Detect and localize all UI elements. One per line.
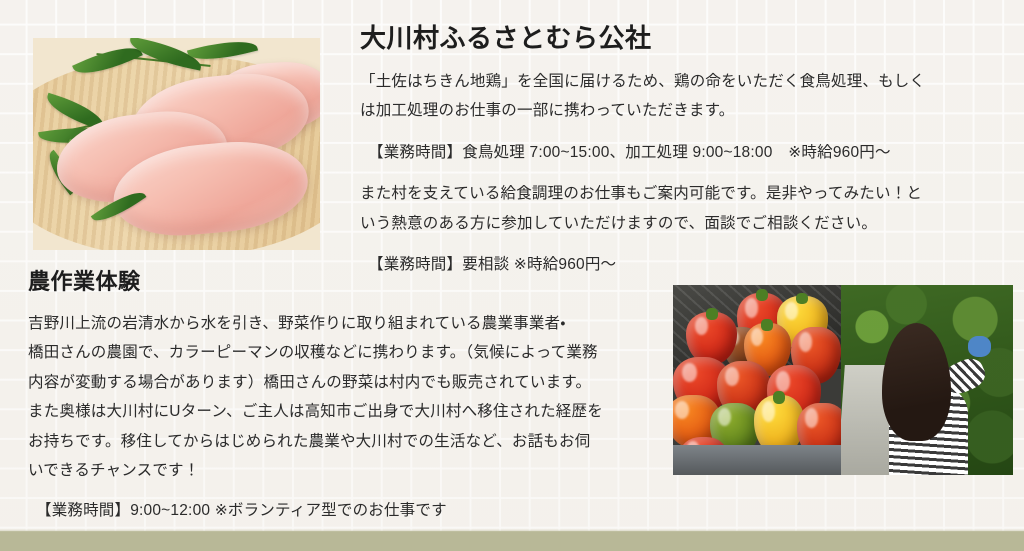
farm-paragraph-line-6: いできるチャンスです！ — [28, 456, 728, 486]
company-section: 大川村ふるさとむら公社 「土佐はちきん地鶏」を全国に届けるため、鶏の命をいただく… — [360, 22, 1008, 280]
farm-hours-wrapper: 【業務時間】9:00~12:00 ※ボランティア型でのお仕事です — [28, 496, 668, 526]
farm-paragraph-line-2: 橋田さんの農園で、カラーピーマンの収穫などに携わります。（気候によって業務 — [28, 338, 728, 368]
farm-working-hours: 【業務時間】9:00~12:00 ※ボランティア型でのお仕事です — [28, 496, 668, 526]
company-paragraph-1-line-1: 「土佐はちきん地鶏」を全国に届けるため、鶏の命をいただく食鳥処理、もしく — [360, 67, 1008, 97]
farm-paragraph-line-5: お持ちです。移住してからはじめられた農業や大川村での生活など、お話もお伺 — [28, 427, 728, 457]
farm-experience-section: 農作業体験 吉野川上流の岩清水から水を引き、野菜作りに取り組まれている農業事業者… — [28, 268, 728, 486]
farm-paragraph-line-4: また奥様は大川村にUターン、ご主人は高知市ご出身で大川村へ移住された経歴を — [28, 397, 728, 427]
company-paragraph-2-line-2: いう熱意のある方に参加していただけますので、面談でご相談ください。 — [360, 209, 1008, 239]
company-paragraph-1-line-2: は加工処理のお仕事の一部に携わっていただきます。 — [360, 96, 1008, 126]
peppers-crate-photo — [673, 285, 841, 475]
farm-paragraph-line-3: 内容が変動する場合があります）橋田さんの野菜は村内でも販売されています。 — [28, 368, 728, 398]
pepper-harvest-photo-pair — [673, 285, 1013, 475]
farm-section-title: 農作業体験 — [28, 268, 728, 297]
harvesting-person-photo — [841, 285, 1013, 475]
footer-color-band — [0, 531, 1024, 551]
company-paragraph-2-line-1: また村を支えている給食調理のお仕事もご案内可能です。是非やってみたい！と — [360, 179, 1008, 209]
company-working-hours-processing: 【業務時間】食鳥処理 7:00~15:00、加工処理 9:00~18:00 ※時… — [360, 138, 1008, 168]
crate-rim-shape — [673, 445, 841, 475]
work-glove-shape — [968, 336, 990, 357]
chicken-breast-photo — [33, 38, 320, 250]
page-canvas: 大川村ふるさとむら公社 「土佐はちきん地鶏」を全国に届けるため、鶏の命をいただく… — [0, 0, 1024, 551]
page-title: 大川村ふるさとむら公社 — [360, 22, 1008, 55]
farm-paragraph-line-1: 吉野川上流の岩清水から水を引き、野菜作りに取り組まれている農業事業者・ — [28, 309, 728, 339]
